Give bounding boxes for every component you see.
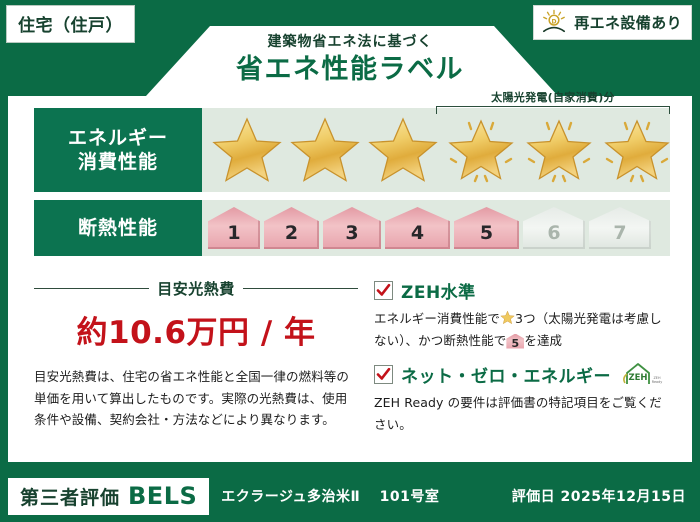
bels-certification-box: 第三者評価 BELS <box>8 478 209 515</box>
net-zero-desc: ZEH Ready の要件は評価書の特記項目をご覧ください。 <box>374 392 670 435</box>
room-number: 101号室 <box>380 489 440 505</box>
svg-text:ZEH: ZEH <box>628 373 647 383</box>
renewable-energy-badge: D 再エネ設備あり <box>533 5 692 40</box>
zeh-column: ZEH水準 エネルギー消費性能で3つ（太陽光発電は考慮しない）、かつ断熱性能で5… <box>370 278 670 445</box>
star-item-solar <box>598 113 676 187</box>
bels-logo-text: BELS <box>128 482 197 510</box>
cost-heading: 目安光熱費 <box>34 278 358 299</box>
star-item <box>286 113 364 187</box>
rule-right <box>243 288 358 289</box>
lower-section: 目安光熱費 約10.6万円 / 年 目安光熱費は、住宅の省エネ性能と全国一律の燃… <box>34 278 670 445</box>
checkbox-checked-icon <box>374 281 393 300</box>
insulation-level-2: 2 <box>264 207 319 249</box>
star-item-solar <box>442 113 520 187</box>
star-rating: 太陽光発電(自家消費)分 <box>208 113 676 187</box>
net-zero-title-row: ネット・ゼロ・エネルギー ZEH ZEH Ready <box>374 361 670 387</box>
zeh-standard-title-row: ZEH水準 <box>374 278 670 303</box>
property-name: エクラージュ多治米Ⅱ <box>221 489 360 505</box>
gold-star-sparkle-icon <box>444 115 518 185</box>
insulation-row-body: 1 2 3 4 5 <box>202 200 670 256</box>
net-zero-energy-block: ネット・ゼロ・エネルギー ZEH ZEH Ready <box>374 361 670 435</box>
solar-sun-icon: D <box>540 9 568 35</box>
rule-left <box>34 288 149 289</box>
svg-text:Ready: Ready <box>652 380 663 384</box>
solar-bracket-caption: 太陽光発電(自家消費)分 <box>430 89 676 105</box>
cost-note: 目安光熱費は、住宅の省エネ性能と全国一律の燃料等の単価を用いて算出したものです。… <box>34 366 358 431</box>
energy-performance-label: 住宅（住戸） D 再エネ設備あり 建築物省エ <box>0 0 700 522</box>
checkbox-checked-icon <box>374 365 393 384</box>
energy-row-body: 太陽光発電(自家消費)分 <box>202 108 676 192</box>
insulation-level-3: 3 <box>323 207 381 249</box>
gold-star-sparkle-icon <box>522 115 596 185</box>
renewable-badge-label: 再エネ設備あり <box>574 12 682 33</box>
star-item-solar <box>520 113 598 187</box>
zeh-desc-part3: を達成 <box>524 333 562 348</box>
solar-generation-bracket: 太陽光発電(自家消費)分 <box>430 89 676 114</box>
inline-insulation-badge: 5 <box>506 334 524 349</box>
category-tag: 住宅（住戸） <box>6 5 135 43</box>
insulation-level-4: 4 <box>385 207 450 249</box>
gold-star-icon <box>500 310 515 325</box>
insulation-performance-row: 断熱性能 1 2 3 4 <box>34 200 670 256</box>
third-party-label: 第三者評価 <box>20 483 120 510</box>
zeh-standard-title: ZEH水準 <box>401 278 476 303</box>
footer-bar: 第三者評価 BELS エクラージュ多治米Ⅱ 101号室 評価日 2025年12月… <box>0 470 700 522</box>
zeh-standard-block: ZEH水準 エネルギー消費性能で3つ（太陽光発電は考慮しない）、かつ断熱性能で5… <box>374 278 670 351</box>
insulation-level-5: 5 <box>454 207 519 249</box>
performance-rows: エネルギー 消費性能 <box>34 108 670 264</box>
zeh-standard-desc: エネルギー消費性能で3つ（太陽光発電は考慮しない）、かつ断熱性能で5を達成 <box>374 308 670 351</box>
insulation-row-label: 断熱性能 <box>34 200 202 256</box>
property-info: エクラージュ多治米Ⅱ 101号室 <box>221 486 439 506</box>
energy-row-label: エネルギー 消費性能 <box>34 108 202 192</box>
gold-star-sparkle-icon <box>600 115 674 185</box>
star-item <box>208 113 286 187</box>
headline-main: 省エネ性能ラベル <box>8 53 692 87</box>
star-item <box>364 113 442 187</box>
insulation-level-6: 6 <box>523 207 585 249</box>
insulation-level-7: 7 <box>589 207 651 249</box>
gold-star-icon <box>210 115 284 185</box>
insulation-level-1: 1 <box>208 207 260 249</box>
cost-heading-text: 目安光熱費 <box>157 278 235 299</box>
label-body-panel: 建築物省エネ法に基づく 省エネ性能ラベル エネルギー 消費性能 <box>0 0 700 470</box>
evaluation-date: 評価日 2025年12月15日 <box>512 486 686 506</box>
utility-cost-column: 目安光熱費 約10.6万円 / 年 目安光熱費は、住宅の省エネ性能と全国一律の燃… <box>34 278 370 445</box>
net-zero-title: ネット・ゼロ・エネルギー <box>401 362 611 387</box>
gold-star-icon <box>288 115 362 185</box>
cost-value: 約10.6万円 / 年 <box>34 307 358 352</box>
zeh-ready-logo: ZEH ZEH Ready <box>619 361 667 387</box>
energy-label-line1: エネルギー <box>68 126 168 150</box>
energy-label-line2: 消費性能 <box>78 150 158 174</box>
energy-performance-row: エネルギー 消費性能 <box>34 108 670 192</box>
zeh-desc-part1: エネルギー消費性能で <box>374 311 500 326</box>
svg-text:D: D <box>552 18 557 25</box>
gold-star-icon <box>366 115 440 185</box>
